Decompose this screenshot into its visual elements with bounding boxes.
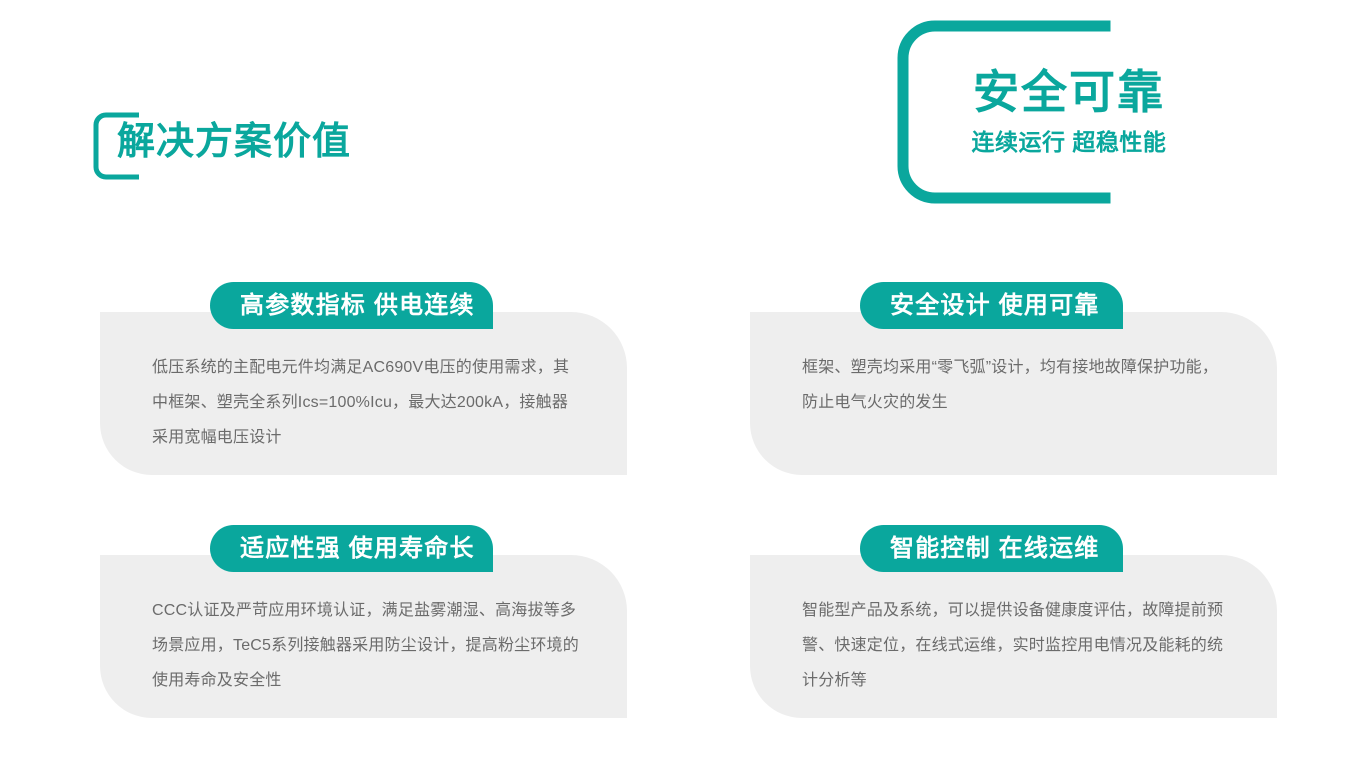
- feature-card-title: 适应性强 使用寿命长: [240, 537, 475, 561]
- feature-card: 高参数指标 供电连续 低压系统的主配电元件均满足AC690V电压的使用需求，其中…: [100, 312, 627, 475]
- feature-card-title: 高参数指标 供电连续: [240, 294, 475, 318]
- feature-card-title-badge: 智能控制 在线运维: [860, 525, 1123, 572]
- feature-card-title: 安全设计 使用可靠: [890, 294, 1099, 318]
- feature-card: 安全设计 使用可靠 框架、塑壳均采用“零飞弧”设计，均有接地故障保护功能，防止电…: [750, 312, 1277, 475]
- hero-subline: 连续运行 超稳性能: [972, 123, 1167, 157]
- feature-card-body: 智能型产品及系统，可以提供设备健康度评估，故障提前预警、快速定位，在线式运维，实…: [802, 593, 1234, 698]
- feature-card: 适应性强 使用寿命长 CCC认证及严苛应用环境认证，满足盐雾潮湿、高海拔等多场景…: [100, 555, 627, 718]
- feature-card-title-badge: 适应性强 使用寿命长: [210, 525, 493, 572]
- feature-card-body: CCC认证及严苛应用环境认证，满足盐雾潮湿、高海拔等多场景应用，TeC5系列接触…: [152, 593, 584, 698]
- hero-block: 安全可靠 连续运行 超稳性能: [895, 18, 1195, 206]
- feature-card-title-badge: 安全设计 使用可靠: [860, 282, 1123, 329]
- feature-card-body: 低压系统的主配电元件均满足AC690V电压的使用需求，其中框架、塑壳全系列Ics…: [152, 350, 584, 455]
- page-title-block: 解决方案价值: [93, 108, 513, 188]
- feature-card-title: 智能控制 在线运维: [890, 537, 1099, 561]
- feature-card-title-badge: 高参数指标 供电连续: [210, 282, 493, 329]
- page-title: 解决方案价值: [117, 108, 351, 176]
- hero-headline: 安全可靠: [973, 67, 1165, 119]
- feature-card: 智能控制 在线运维 智能型产品及系统，可以提供设备健康度评估，故障提前预警、快速…: [750, 555, 1277, 718]
- feature-card-body: 框架、塑壳均采用“零飞弧”设计，均有接地故障保护功能，防止电气火灾的发生: [802, 350, 1234, 420]
